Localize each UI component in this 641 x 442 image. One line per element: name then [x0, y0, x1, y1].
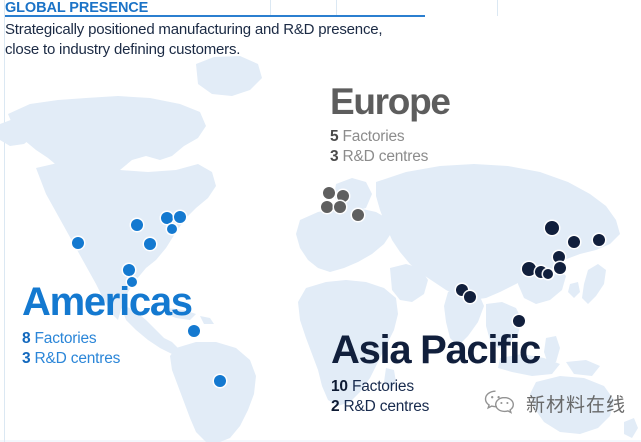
marker-americas [144, 238, 156, 250]
marker-asia [568, 236, 580, 248]
subtitle: Strategically positioned manufacturing a… [5, 20, 425, 60]
title-underline [5, 15, 425, 17]
watermark: 新材料在线 [483, 388, 626, 419]
region-europe-factories-count: 5 [330, 128, 338, 145]
subtitle-line-1: Strategically positioned manufacturing a… [5, 20, 425, 40]
region-americas-title: Americas [22, 282, 192, 322]
region-americas-factories-label: Factories [35, 330, 97, 347]
region-europe-rnd: 3 R&D centres [330, 147, 450, 167]
region-europe: Europe 5 Factories 3 R&D centres [330, 83, 450, 166]
region-asia-title: Asia Pacific [331, 330, 540, 370]
region-asia-factories-count: 10 [331, 378, 348, 395]
marker-europe [323, 187, 335, 199]
marker-americas [167, 224, 177, 234]
marker-europe [352, 209, 364, 221]
region-europe-stats: 5 Factories 3 R&D centres [330, 127, 450, 166]
region-americas-factories-count: 8 [22, 330, 30, 347]
region-americas: Americas 8 Factories 3 R&D centres [22, 282, 192, 368]
marker-asia [593, 234, 605, 246]
map-landmasses [0, 56, 641, 442]
marker-americas [72, 237, 84, 249]
marker-asia [543, 269, 553, 279]
region-americas-rnd-count: 3 [22, 350, 30, 367]
marker-asia [554, 262, 566, 274]
region-americas-factories: 8 Factories [22, 329, 192, 349]
watermark-text: 新材料在线 [526, 390, 626, 417]
region-asia-rnd-label: R&D centres [344, 398, 430, 415]
marker-asia [464, 291, 476, 303]
marker-americas [131, 219, 143, 231]
guide-line-3 [497, 0, 498, 16]
marker-americas [174, 211, 186, 223]
subtitle-line-2: close to industry defining customers. [5, 40, 425, 60]
marker-europe [334, 201, 346, 213]
region-europe-factories: 5 Factories [330, 127, 450, 147]
marker-americas [214, 375, 226, 387]
region-europe-rnd-count: 3 [330, 148, 338, 165]
region-europe-title: Europe [330, 83, 450, 120]
wechat-logo-icon [483, 388, 517, 419]
marker-europe [321, 201, 333, 213]
header: GLOBAL PRESENCE Strategically positioned… [5, 0, 425, 60]
page-title: GLOBAL PRESENCE [5, 0, 425, 16]
world-map [0, 52, 641, 442]
marker-americas [161, 212, 173, 224]
region-asia-factories-label: Factories [352, 378, 414, 395]
region-asia-rnd-count: 2 [331, 398, 339, 415]
marker-asia [513, 315, 525, 327]
region-europe-factories-label: Factories [343, 128, 405, 145]
region-europe-rnd-label: R&D centres [343, 148, 429, 165]
marker-asia [522, 262, 536, 276]
marker-americas [123, 264, 135, 276]
region-americas-stats: 8 Factories 3 R&D centres [22, 329, 192, 368]
region-americas-rnd-label: R&D centres [35, 350, 121, 367]
slide-global-presence: GLOBAL PRESENCE Strategically positioned… [0, 0, 641, 442]
region-americas-rnd: 3 R&D centres [22, 349, 192, 369]
marker-asia [545, 221, 559, 235]
